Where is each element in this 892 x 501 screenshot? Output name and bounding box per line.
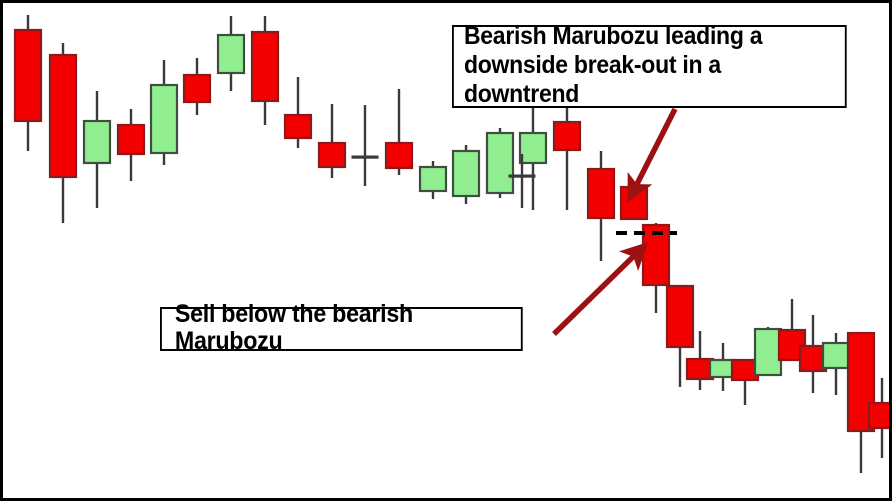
candlestick bbox=[218, 16, 244, 91]
candle-body bbox=[520, 133, 546, 163]
candlestick bbox=[84, 91, 110, 208]
candle-body bbox=[184, 75, 210, 102]
candle-body bbox=[84, 121, 110, 163]
candlestick bbox=[285, 77, 311, 148]
callout-top-text: Bearish Marubozu leading a downside brea… bbox=[464, 22, 836, 109]
candlestick bbox=[453, 145, 479, 204]
candlestick bbox=[420, 161, 446, 199]
candlestick bbox=[352, 105, 378, 186]
candle-body bbox=[554, 122, 580, 150]
candle-body bbox=[823, 343, 849, 368]
candle-body bbox=[869, 403, 892, 428]
candle-body bbox=[285, 115, 311, 138]
candlestick bbox=[621, 187, 647, 219]
candlestick bbox=[520, 103, 546, 210]
candle-body bbox=[50, 55, 76, 177]
candle-body bbox=[420, 167, 446, 191]
arrow-to-sell-level bbox=[554, 252, 638, 334]
candle-body bbox=[118, 125, 144, 154]
candle-body bbox=[15, 30, 41, 121]
callout-bearish-marubozu: Bearish Marubozu leading a downside brea… bbox=[452, 25, 847, 108]
candlestick bbox=[755, 327, 781, 376]
candlestick bbox=[588, 151, 614, 261]
candlestick bbox=[50, 43, 76, 223]
candle-body bbox=[621, 187, 647, 219]
candlestick bbox=[319, 104, 345, 178]
chart-figure-frame: Bearish Marubozu leading a downside brea… bbox=[0, 0, 892, 501]
candle-body bbox=[218, 35, 244, 73]
candle-body bbox=[386, 143, 412, 168]
candle-body bbox=[667, 286, 693, 347]
candle-body bbox=[453, 151, 479, 196]
candlestick bbox=[386, 89, 412, 175]
candle-body bbox=[319, 143, 345, 167]
candlestick bbox=[252, 16, 278, 125]
candle-body bbox=[755, 329, 781, 375]
candle-body bbox=[151, 85, 177, 153]
candle-body bbox=[509, 175, 535, 177]
arrow-to-marubozu-top bbox=[634, 109, 675, 190]
candle-body bbox=[352, 156, 378, 158]
candlestick bbox=[184, 58, 210, 115]
candlestick bbox=[151, 60, 177, 165]
candlestick bbox=[823, 333, 849, 395]
callout-bottom-text: Sell below the bearish Marubozu bbox=[175, 301, 512, 356]
candlestick bbox=[554, 101, 580, 210]
candle-body bbox=[588, 169, 614, 218]
candlestick bbox=[15, 15, 41, 151]
candle-body bbox=[252, 32, 278, 101]
candle-body bbox=[487, 133, 513, 193]
candlestick bbox=[487, 128, 513, 198]
callout-sell-below: Sell below the bearish Marubozu bbox=[160, 307, 523, 351]
candlestick bbox=[643, 223, 669, 313]
candlestick bbox=[118, 109, 144, 181]
